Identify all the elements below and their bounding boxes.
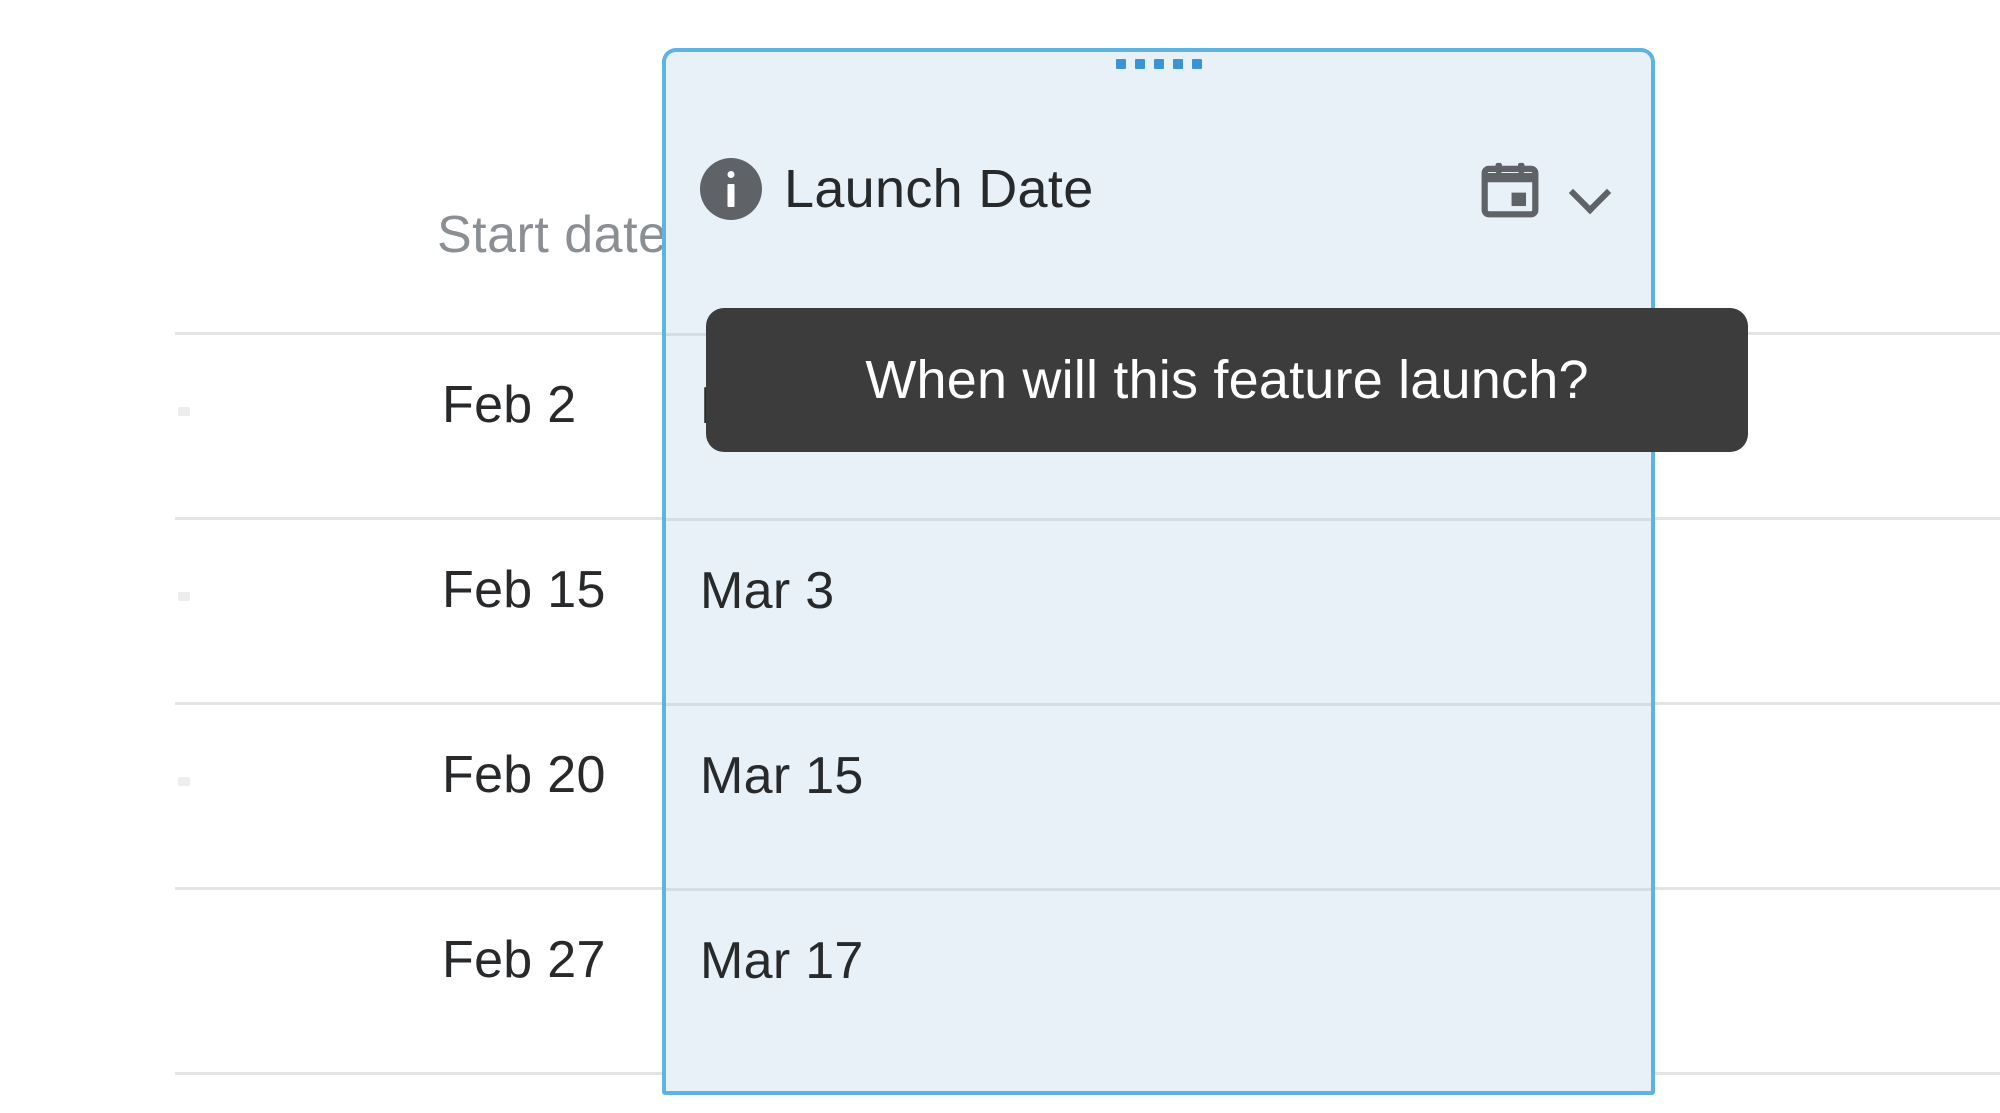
table-cell-start-date[interactable]: Feb 20 xyxy=(442,745,606,805)
calendar-icon[interactable] xyxy=(1479,158,1541,220)
column-start-date: Start date Feb 2 Feb 15 Feb 20 Feb 27 xyxy=(175,0,662,1113)
table-cell-start-date[interactable]: Feb 2 xyxy=(442,375,576,435)
chevron-down-icon[interactable] xyxy=(1567,166,1613,212)
table-cell-start-date[interactable]: Feb 15 xyxy=(442,560,606,620)
info-icon[interactable] xyxy=(700,158,762,220)
column-launch-date-selected[interactable]: Launch Date Mar 1 Mar 3 Mar 15 Mar 17 xyxy=(662,48,1655,1095)
row-divider xyxy=(666,888,1651,891)
column-header-label: Launch Date xyxy=(784,158,1479,220)
table-cell-launch-date[interactable]: Mar 3 xyxy=(700,561,834,621)
column-header-launch-date[interactable]: Launch Date xyxy=(666,52,1651,270)
tooltip: When will this feature launch? xyxy=(706,308,1748,452)
row-divider xyxy=(666,703,1651,706)
table-cell-launch-date[interactable]: Mar 15 xyxy=(700,746,864,806)
column-header-start-date[interactable]: Start date xyxy=(437,205,667,265)
table-cell-start-date[interactable]: Feb 27 xyxy=(442,930,606,990)
row-divider xyxy=(666,518,1651,521)
data-table: Start date Feb 2 Feb 15 Feb 20 Feb 27 La… xyxy=(0,0,2000,1113)
table-cell-launch-date[interactable]: Mar 17 xyxy=(700,931,864,991)
